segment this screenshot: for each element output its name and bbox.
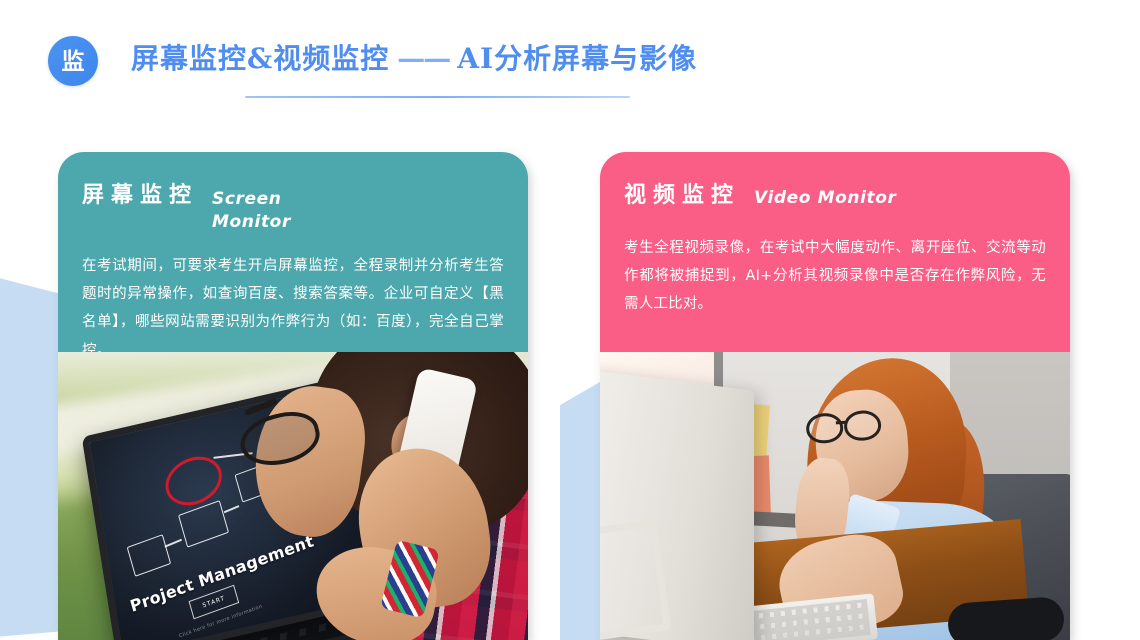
card-screen-monitor[interactable]: 屏幕监控 Screen Monitor 在考试期间，可要求考生开启屏幕监控，全程… <box>58 152 528 640</box>
card-photo-video-monitor <box>600 352 1070 640</box>
photo-woman-glasses <box>805 410 879 441</box>
page-title-main: 屏幕监控&视频监控 <box>131 42 389 75</box>
card-title-en-video-monitor: Video Monitor <box>754 184 897 210</box>
page-title-dash: —— <box>397 42 449 75</box>
card-photo-screen-monitor: Project Management START Click here for … <box>58 352 528 640</box>
card-body-screen-monitor: 在考试期间，可要求考生开启屏幕监控，全程录制并分析考生答题时的异常操作，如查询百… <box>82 252 504 365</box>
photo-diagram-box <box>127 534 172 577</box>
photo-diagram-arrow <box>165 539 182 548</box>
monitor-badge-icon: 监 <box>48 36 98 86</box>
card-body-video-monitor: 考生全程视频录像，在考试中大幅度动作、离开座位、交流等动作都将被捕捉到，AI+分… <box>624 234 1046 319</box>
section-header: 监 屏幕监控&视频监控——AI分析屏幕与影像 <box>0 0 1140 120</box>
photo-diagram-box <box>178 500 229 548</box>
page-canvas: 监 屏幕监控&视频监控——AI分析屏幕与影像 屏幕监控 Screen Monit… <box>0 0 1140 640</box>
page-title: 屏幕监控&视频监控——AI分析屏幕与影像 <box>131 41 771 76</box>
title-underline-divider <box>245 96 630 98</box>
page-title-sub: AI分析屏幕与影像 <box>457 42 697 75</box>
card-video-monitor[interactable]: 视频监控 Video Monitor 考生全程视频录像，在考试中大幅度动作、离开… <box>600 152 1070 640</box>
card-title-en-screen-monitor: Screen Monitor <box>212 184 342 234</box>
photo-diagram-arrow <box>224 505 239 513</box>
photo-chair-armrest <box>947 596 1066 640</box>
card-header-screen-monitor: 屏幕监控 Screen Monitor 在考试期间，可要求考生开启屏幕监控，全程… <box>58 152 528 352</box>
badge-character: 监 <box>62 50 85 73</box>
card-title-cn-video-monitor: 视频监控 <box>624 184 740 208</box>
card-header-video-monitor: 视频监控 Video Monitor 考生全程视频录像，在考试中大幅度动作、离开… <box>600 152 1070 352</box>
card-title-cn-screen-monitor: 屏幕监控 <box>82 184 198 208</box>
